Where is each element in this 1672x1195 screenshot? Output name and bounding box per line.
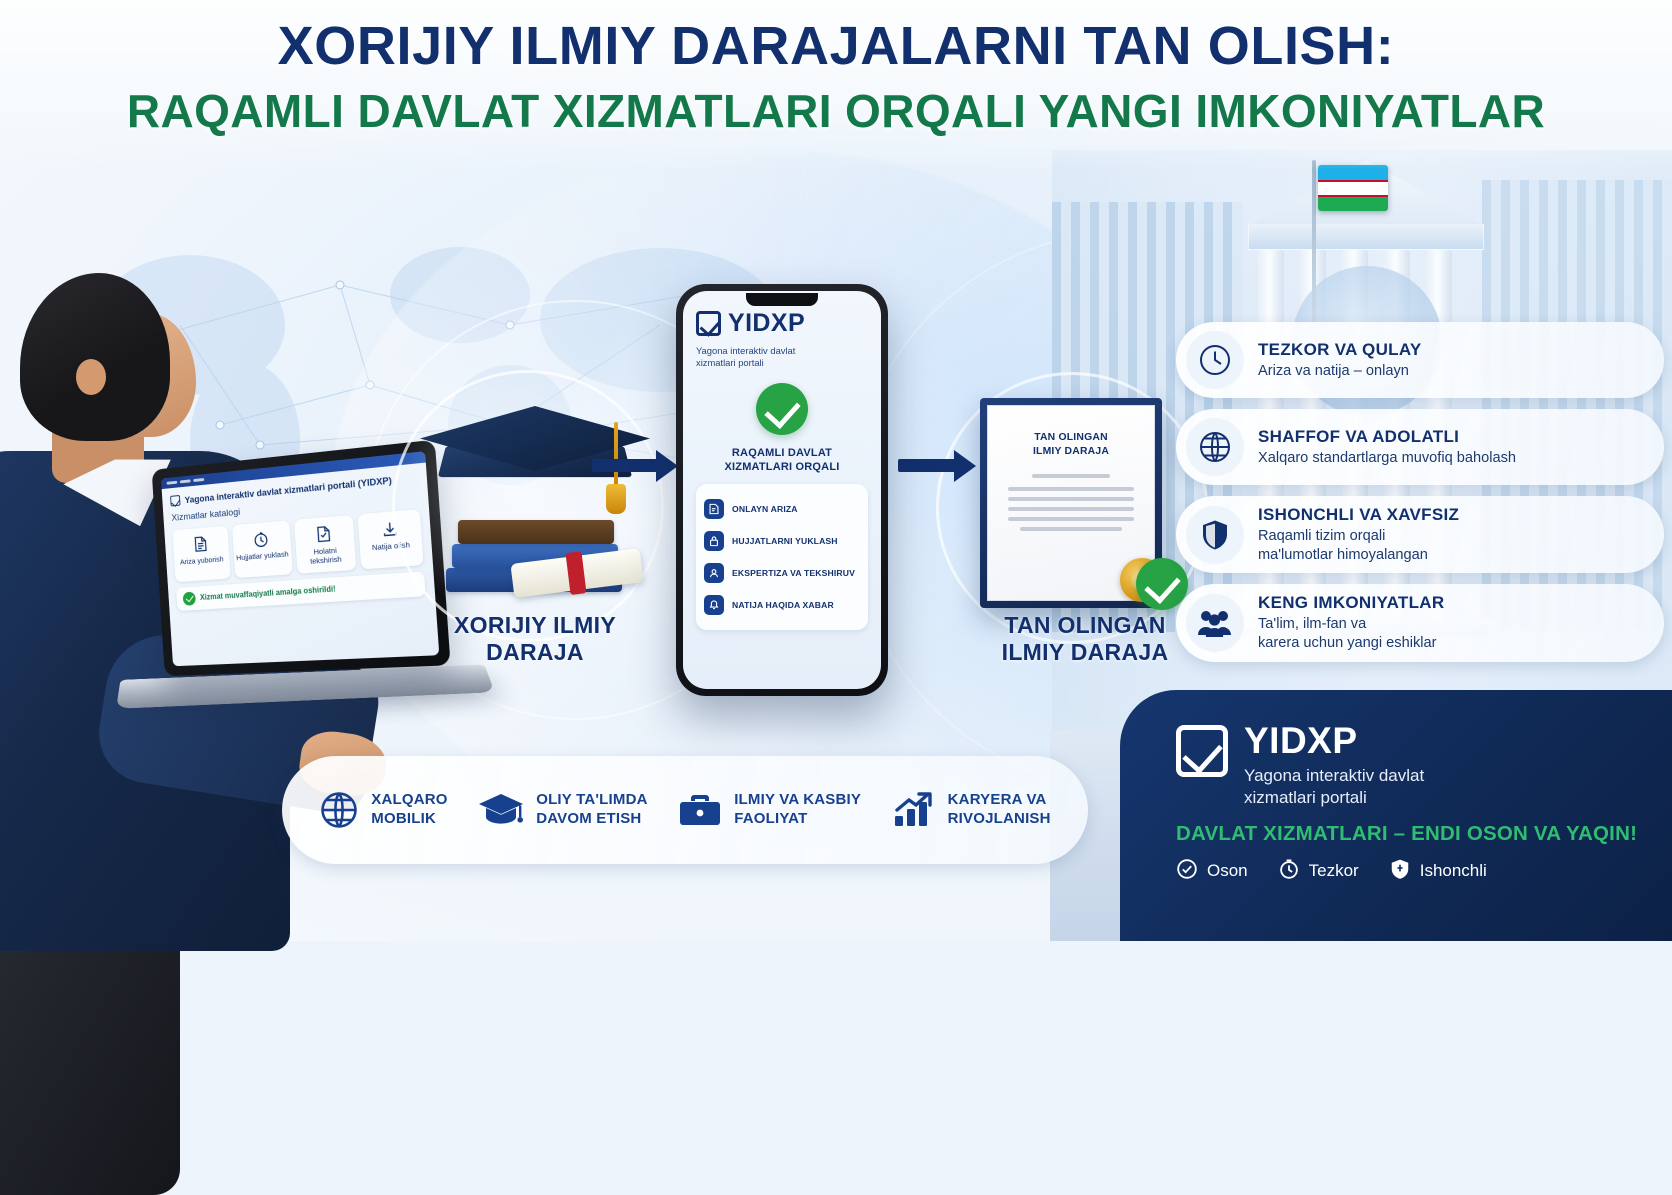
benefits-strip: XALQARO MOBILIK OLIY TA'LIMDA DAVOM ETIS…	[282, 756, 1088, 864]
success-check-icon	[756, 383, 808, 435]
title-line-1: XORIJIY ILMIY DARAJALARNI TAN OLISH:	[0, 18, 1672, 75]
brand-chip-list: Oson Tezkor Ishonchli	[1176, 858, 1638, 885]
list-item[interactable]: HUJJATLARNI YUKLASH	[704, 525, 860, 557]
brand-header: YIDXP Yagona interaktiv davlat xizmatlar…	[1176, 722, 1638, 809]
infographic-canvas: XORIJIY ILMIY DARAJALARNI TAN OLISH: RAQ…	[0, 0, 1672, 941]
list-item-label: EKSPERTIZA VA TEKSHIRUV	[732, 568, 855, 578]
smartphone-mockup: YIDXP Yagona interaktiv davlat xizmatlar…	[676, 284, 888, 696]
chip-tezkor: Tezkor	[1278, 858, 1359, 885]
benefit-label: XALQARO MOBILIK	[371, 791, 447, 828]
feature-card-shaffof-va-adolatli[interactable]: SHAFFOF VA ADOLATLI Xalqaro standartlarg…	[1176, 409, 1664, 485]
feature-description: Ariza va natija – onlayn	[1258, 362, 1422, 381]
clock-icon	[1278, 858, 1300, 885]
service-tile-hujjatlar-yuklash[interactable]: Hujjatlar yuklash	[232, 520, 293, 577]
globe-icon	[1186, 418, 1244, 476]
briefcase-icon	[678, 791, 722, 829]
shield-icon	[1186, 506, 1244, 564]
benefit-ilmiy-va-kasbiy-faoliyat[interactable]: ILMIY VA KASBIY FAOLIYAT	[678, 791, 861, 829]
clock-icon	[1186, 331, 1244, 389]
brand-tagline: Yagona interaktiv davlat xizmatlari port…	[1244, 765, 1424, 809]
list-item-label: NATIJA HAQIDA XABAR	[732, 600, 834, 610]
ribbon-icon	[566, 551, 587, 595]
service-tile-holatni-tekshirish[interactable]: Holatni tekshirish	[294, 515, 357, 574]
chip-label: Ishonchli	[1420, 861, 1487, 881]
phone-tagline: Yagona interaktiv davlat xizmatlari port…	[696, 345, 868, 370]
phone-heading: RAQAMLI DAVLAT XIZMATLARI ORQALI	[696, 446, 868, 474]
success-message: Xizmat muvaffaqiyatli amalga oshirildi!	[200, 584, 336, 602]
phone-app-brand: YIDXP	[696, 309, 868, 338]
service-tile-label: Hujjatlar yuklash	[235, 549, 289, 562]
list-item-label: ONLAYN ARIZA	[732, 504, 798, 514]
upload-documents-icon	[704, 531, 724, 551]
feature-description: Raqamli tizim orqali ma'lumotlar himoyal…	[1258, 527, 1459, 564]
brand-slogan: DAVLAT XIZMATLARI – ENDI OSON VA YAQIN!	[1176, 822, 1638, 846]
chip-label: Tezkor	[1309, 861, 1359, 881]
growth-chart-icon	[892, 791, 936, 829]
person-ear	[76, 359, 106, 395]
phone-brand-name: YIDXP	[728, 309, 805, 338]
certificate-title: TAN OLINGAN ILMIY DARAJA	[1002, 431, 1140, 458]
benefit-label: OLIY TA'LIMDA DAVOM ETISH	[536, 791, 647, 828]
people-icon	[1186, 594, 1244, 652]
list-item-label: HUJJATLARNI YUKLASH	[732, 536, 838, 546]
feature-card-list: TEZKOR VA QULAY Ariza va natija – onlayn…	[1176, 322, 1664, 673]
certificate-illustration: TAN OLINGAN ILMIY DARAJA	[980, 398, 1162, 608]
expertise-review-icon	[704, 563, 724, 583]
check-circle-icon	[1176, 858, 1198, 885]
benefit-karyera-va-rivojlanish[interactable]: KARYERA VA RIVOJLANISH	[892, 791, 1051, 829]
phone-service-list: ONLAYN ARIZA HUJJATLARNI YUKLASH	[696, 484, 868, 630]
feature-title: SHAFFOF VA ADOLATLI	[1258, 427, 1459, 446]
checkbox-icon	[696, 311, 721, 336]
tassel-icon	[606, 484, 626, 514]
globe-icon	[319, 790, 359, 830]
service-tile-label: Ariza yuborish	[176, 554, 228, 567]
service-tile-label: Holatni tekshirish	[297, 544, 354, 567]
status-check-icon	[296, 522, 353, 546]
document-send-icon	[175, 533, 227, 556]
checkbox-icon	[1176, 725, 1228, 777]
brand-panel: YIDXP Yagona interaktiv davlat xizmatlar…	[1120, 690, 1672, 941]
feature-description: Ta'lim, ilm-fan va karera uchun yangi es…	[1258, 615, 1444, 652]
graduation-cap-icon	[478, 791, 524, 829]
title-line-2: RAQAMLI DAVLAT XIZMATLARI ORQALI YANGI I…	[0, 87, 1672, 135]
phone-notch	[746, 293, 818, 306]
chip-oson: Oson	[1176, 858, 1248, 885]
flow-arrow-2	[898, 450, 976, 482]
checkbox-icon	[170, 495, 180, 506]
flow-arrow-1	[592, 450, 678, 482]
chip-label: Oson	[1207, 861, 1248, 881]
service-tile-ariza-yuborish[interactable]: Ariza yuborish	[172, 526, 230, 582]
feature-card-keng-imkoniyatlar[interactable]: KENG IMKONIYATLAR Ta'lim, ilm-fan va kar…	[1176, 584, 1664, 661]
feature-card-tezkor-va-qulay[interactable]: TEZKOR VA QULAY Ariza va natija – onlayn	[1176, 322, 1664, 398]
phone-screen[interactable]: YIDXP Yagona interaktiv davlat xizmatlar…	[683, 291, 881, 689]
list-item[interactable]: ONLAYN ARIZA	[704, 493, 860, 525]
shield-icon	[1389, 858, 1411, 885]
feature-title: TEZKOR VA QULAY	[1258, 340, 1422, 359]
chip-ishonchli: Ishonchli	[1389, 858, 1487, 885]
uzbekistan-flag-icon	[1318, 165, 1388, 211]
benefit-label: KARYERA VA RIVOJLANISH	[948, 791, 1051, 828]
clock-upload-icon	[234, 527, 289, 550]
list-item[interactable]: NATIJA HAQIDA XABAR	[704, 589, 860, 621]
benefit-oliy-talimda-davom-etish[interactable]: OLIY TA'LIMDA DAVOM ETISH	[478, 791, 647, 829]
list-item[interactable]: EKSPERTIZA VA TEKSHIRUV	[704, 557, 860, 589]
feature-title: KENG IMKONIYATLAR	[1258, 593, 1444, 612]
check-circle-icon	[183, 591, 196, 605]
stage-label-xorijiy-ilmiy-daraja: XORIJIY ILMIY DARAJA	[400, 612, 670, 666]
benefit-xalqaro-mobilik[interactable]: XALQARO MOBILIK	[319, 790, 447, 830]
page-title: XORIJIY ILMIY DARAJALARNI TAN OLISH: RAQ…	[0, 18, 1672, 135]
benefit-label: ILMIY VA KASBIY FAOLIYAT	[734, 791, 861, 828]
online-application-icon	[704, 499, 724, 519]
feature-title: ISHONCHLI VA XAVFSIZ	[1258, 505, 1459, 524]
feature-card-ishonchli-va-xavfsiz[interactable]: ISHONCHLI VA XAVFSIZ Raqamli tizim orqal…	[1176, 496, 1664, 573]
brand-name: YIDXP	[1244, 722, 1424, 759]
result-notification-icon	[704, 595, 724, 615]
person-hair	[20, 273, 170, 441]
stage-label-tan-olingan-ilmiy-daraja: TAN OLINGAN ILMIY DARAJA	[965, 612, 1205, 666]
feature-description: Xalqaro standartlarga muvofiq baholash	[1258, 449, 1516, 468]
